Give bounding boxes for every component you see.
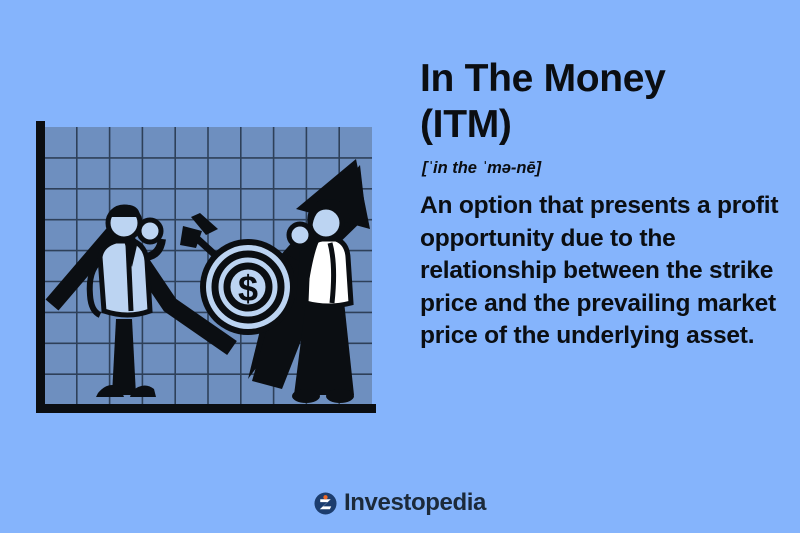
definition-text: An option that presents a profit opportu… xyxy=(420,190,792,353)
brand-footer: Investopedia xyxy=(0,491,800,515)
y-axis xyxy=(36,121,45,413)
dollar-target: $ xyxy=(200,239,296,335)
stock-chart-illustration: $ xyxy=(20,105,390,425)
term-text-column: In The Money (ITM) [ˈin the ˈmə-nē] An o… xyxy=(420,56,792,353)
x-axis xyxy=(36,404,376,413)
dollar-sign-label: $ xyxy=(238,268,258,309)
investopedia-logo-icon xyxy=(314,492,337,515)
man-phone xyxy=(139,220,161,242)
page-title: In The Money (ITM) xyxy=(420,56,792,148)
woman-phone xyxy=(289,224,311,246)
definition-card: $ xyxy=(0,0,800,533)
pronunciation-text: [ˈin the ˈmə-nē] xyxy=(422,158,792,178)
brand-wordmark: Investopedia xyxy=(344,491,486,515)
